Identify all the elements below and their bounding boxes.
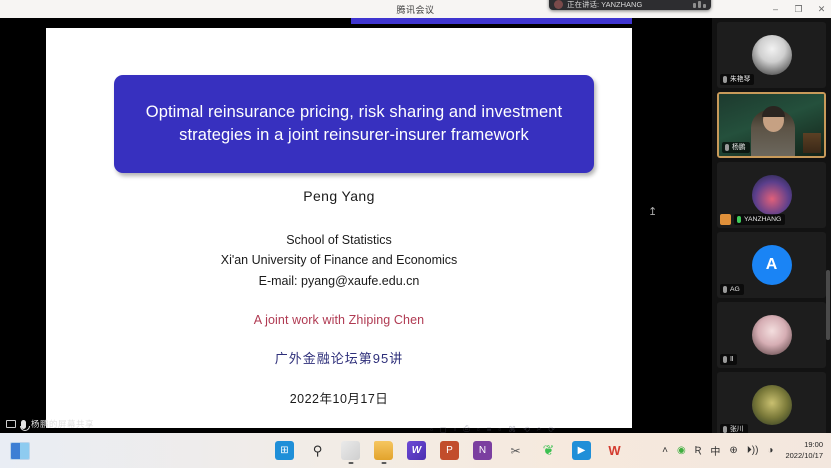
participant-name-chip: 朱艳琴 bbox=[720, 74, 754, 85]
screen-share-label: 杨鹏的屏幕共享 bbox=[31, 418, 94, 430]
video-background-shelf bbox=[803, 133, 821, 153]
ppt-nav-glyph[interactable]: ⌕ bbox=[537, 424, 541, 433]
slide-title-box: Optimal reinsurance pricing, risk sharin… bbox=[114, 75, 594, 173]
slide-date: 2022年10月17日 bbox=[46, 388, 632, 407]
ppt-presenter-controls[interactable]: ▫ ◻ ▫ ⎙ ▫ ≡ ▫ ⌘ ⟲ ⌕ ⟳ bbox=[430, 423, 630, 433]
folder-icon[interactable] bbox=[374, 441, 393, 460]
meeting-window: 腾讯会议 – ❐ ✕ 正在讲话: YANZHANG Optimal reinsu… bbox=[0, 0, 831, 468]
onenote-icon[interactable]: N bbox=[473, 441, 492, 460]
taskbar-system-tray[interactable]: ˄ ◉ Ʀ 中 ⊕ ⏵)) ◑ 19:00 2022/10/17 bbox=[662, 440, 831, 460]
ppt-nav-glyph[interactable]: ▫ bbox=[453, 425, 456, 434]
participant-name: Ⅱ bbox=[730, 355, 733, 364]
taskbar-app-icons[interactable]: ⊞ ⚲ W P N ✂ ❦ ▶ W bbox=[275, 441, 624, 460]
participant-name: 朱艳琴 bbox=[730, 75, 750, 84]
participant-name-chip: 张川 bbox=[720, 424, 748, 433]
participant-tile[interactable]: 张川 bbox=[717, 372, 826, 433]
participant-tile[interactable]: 杨鹏 bbox=[717, 92, 826, 158]
slide-affiliation-1: School of Statistics bbox=[46, 230, 632, 250]
window-titlebar: 腾讯会议 – ❐ ✕ 正在讲话: YANZHANG bbox=[0, 0, 831, 18]
show-hidden-icons-icon[interactable]: ˄ bbox=[662, 446, 668, 456]
participant-name: AG bbox=[730, 285, 740, 294]
avatar bbox=[752, 315, 792, 355]
wechat-icon[interactable]: ❦ bbox=[539, 441, 558, 460]
windows-taskbar[interactable]: ⊞ ⚲ W P N ✂ ❦ ▶ W ˄ ◉ Ʀ 中 ⊕ ⏵)) ◑ 19:00 … bbox=[0, 433, 831, 468]
participant-tile[interactable]: A AG bbox=[717, 232, 826, 298]
video-camera-icon[interactable]: ▶ bbox=[572, 441, 591, 460]
speaker-avatar bbox=[554, 0, 563, 9]
ppt-nav-glyph[interactable]: ▫ bbox=[498, 425, 501, 434]
antivirus-icon[interactable]: ◉ bbox=[677, 446, 686, 456]
screen-share-indicator: 杨鹏的屏幕共享 bbox=[0, 415, 200, 433]
participant-name: 张川 bbox=[730, 425, 744, 433]
microphone-muted-icon bbox=[723, 76, 727, 83]
maximize-button[interactable]: ❐ bbox=[793, 5, 804, 14]
taskbar-clock[interactable]: 19:00 2022/10/17 bbox=[785, 440, 823, 460]
audio-level-icon bbox=[693, 1, 706, 9]
wps-writer-icon[interactable]: W bbox=[407, 441, 426, 460]
participant-tile[interactable]: YANZHANG bbox=[717, 162, 826, 228]
search-icon[interactable]: ⚲ bbox=[308, 441, 327, 460]
active-speaker-label: 正在讲话: YANZHANG bbox=[567, 0, 689, 9]
network-icon[interactable]: ⊕ bbox=[729, 446, 737, 456]
ppt-nav-glyph[interactable]: ⎙ bbox=[463, 424, 469, 433]
microphone-muted-icon bbox=[723, 356, 727, 363]
mouse-cursor-icon: ↥ bbox=[648, 205, 657, 218]
microphone-muted-icon bbox=[723, 286, 727, 293]
app-title: 腾讯会议 bbox=[396, 3, 434, 16]
presentation-slide: Optimal reinsurance pricing, risk sharin… bbox=[46, 28, 632, 428]
ppt-nav-glyph[interactable]: ▫ bbox=[477, 425, 480, 434]
avatar bbox=[752, 385, 792, 425]
ppt-nav-glyph[interactable]: ◻ bbox=[440, 425, 447, 434]
window-controls: – ❐ ✕ bbox=[770, 0, 827, 18]
powerpoint-icon[interactable]: P bbox=[440, 441, 459, 460]
screen-top-strip bbox=[0, 18, 712, 24]
slide-author: Peng Yang bbox=[46, 188, 632, 204]
ime-indicator[interactable]: 中 bbox=[710, 443, 720, 458]
minimize-button[interactable]: – bbox=[770, 5, 781, 14]
microphone-icon[interactable]: Ʀ bbox=[695, 446, 702, 456]
clock-time: 19:00 bbox=[785, 440, 823, 450]
slide-joint-work: A joint work with Zhiping Chen bbox=[46, 313, 632, 327]
active-speaker-banner[interactable]: 正在讲话: YANZHANG bbox=[549, 0, 711, 10]
slide-affiliation-2: Xi'an University of Finance and Economic… bbox=[46, 250, 632, 270]
ppt-nav-glyph[interactable]: ⟳ bbox=[548, 425, 555, 434]
participant-name-chip: Ⅱ bbox=[720, 354, 737, 365]
ppt-nav-glyph[interactable]: ▫ bbox=[430, 425, 433, 434]
microphone-muted-icon bbox=[723, 426, 727, 433]
volume-icon[interactable]: ⏵)) bbox=[747, 446, 759, 456]
microphone-active-icon bbox=[737, 216, 741, 223]
windows-start-icon[interactable]: ⊞ bbox=[275, 441, 294, 460]
participant-tile[interactable]: 朱艳琴 bbox=[717, 22, 826, 88]
slide-title: Optimal reinsurance pricing, risk sharin… bbox=[130, 101, 578, 148]
ppt-nav-glyph[interactable]: ⌘ bbox=[508, 425, 516, 434]
participant-name-chip: YANZHANG bbox=[734, 214, 785, 225]
participant-tile[interactable]: Ⅱ bbox=[717, 302, 826, 368]
app-icon[interactable] bbox=[341, 441, 360, 460]
taskbar-widgets-area[interactable] bbox=[0, 442, 275, 460]
screen-share-icon bbox=[6, 420, 16, 428]
participant-name: 杨鹏 bbox=[732, 143, 746, 152]
close-button[interactable]: ✕ bbox=[816, 5, 827, 14]
ppt-nav-glyph[interactable]: ⟲ bbox=[523, 425, 530, 434]
slide-email: E-mail: pyang@xaufe.edu.cn bbox=[46, 271, 632, 291]
avatar bbox=[752, 175, 792, 215]
wps-icon[interactable]: W bbox=[605, 441, 624, 460]
slide-forum: 广外金融论坛第95讲 bbox=[46, 348, 632, 367]
clock-date: 2022/10/17 bbox=[785, 451, 823, 461]
widgets-icon[interactable] bbox=[10, 442, 30, 460]
avatar-initial: A bbox=[752, 245, 792, 285]
battery-icon[interactable]: ◑ bbox=[767, 446, 773, 456]
shared-screen-stage[interactable]: Optimal reinsurance pricing, risk sharin… bbox=[0, 18, 712, 433]
host-badge-icon bbox=[720, 214, 731, 225]
participant-sidebar[interactable]: 朱艳琴 杨鹏 YANZHANG bbox=[712, 18, 831, 433]
participant-name: YANZHANG bbox=[744, 215, 781, 224]
ppt-nav-glyph[interactable]: ≡ bbox=[487, 425, 492, 434]
microphone-icon bbox=[21, 420, 26, 429]
avatar bbox=[752, 35, 792, 75]
participant-name-chip: AG bbox=[720, 284, 744, 295]
scissors-icon[interactable]: ✂ bbox=[506, 441, 525, 460]
sidebar-scrollbar[interactable] bbox=[826, 270, 830, 340]
participant-name-chip: 杨鹏 bbox=[722, 142, 750, 153]
microphone-muted-icon bbox=[725, 144, 729, 151]
slide-body: Peng Yang School of Statistics Xi'an Uni… bbox=[46, 188, 632, 407]
